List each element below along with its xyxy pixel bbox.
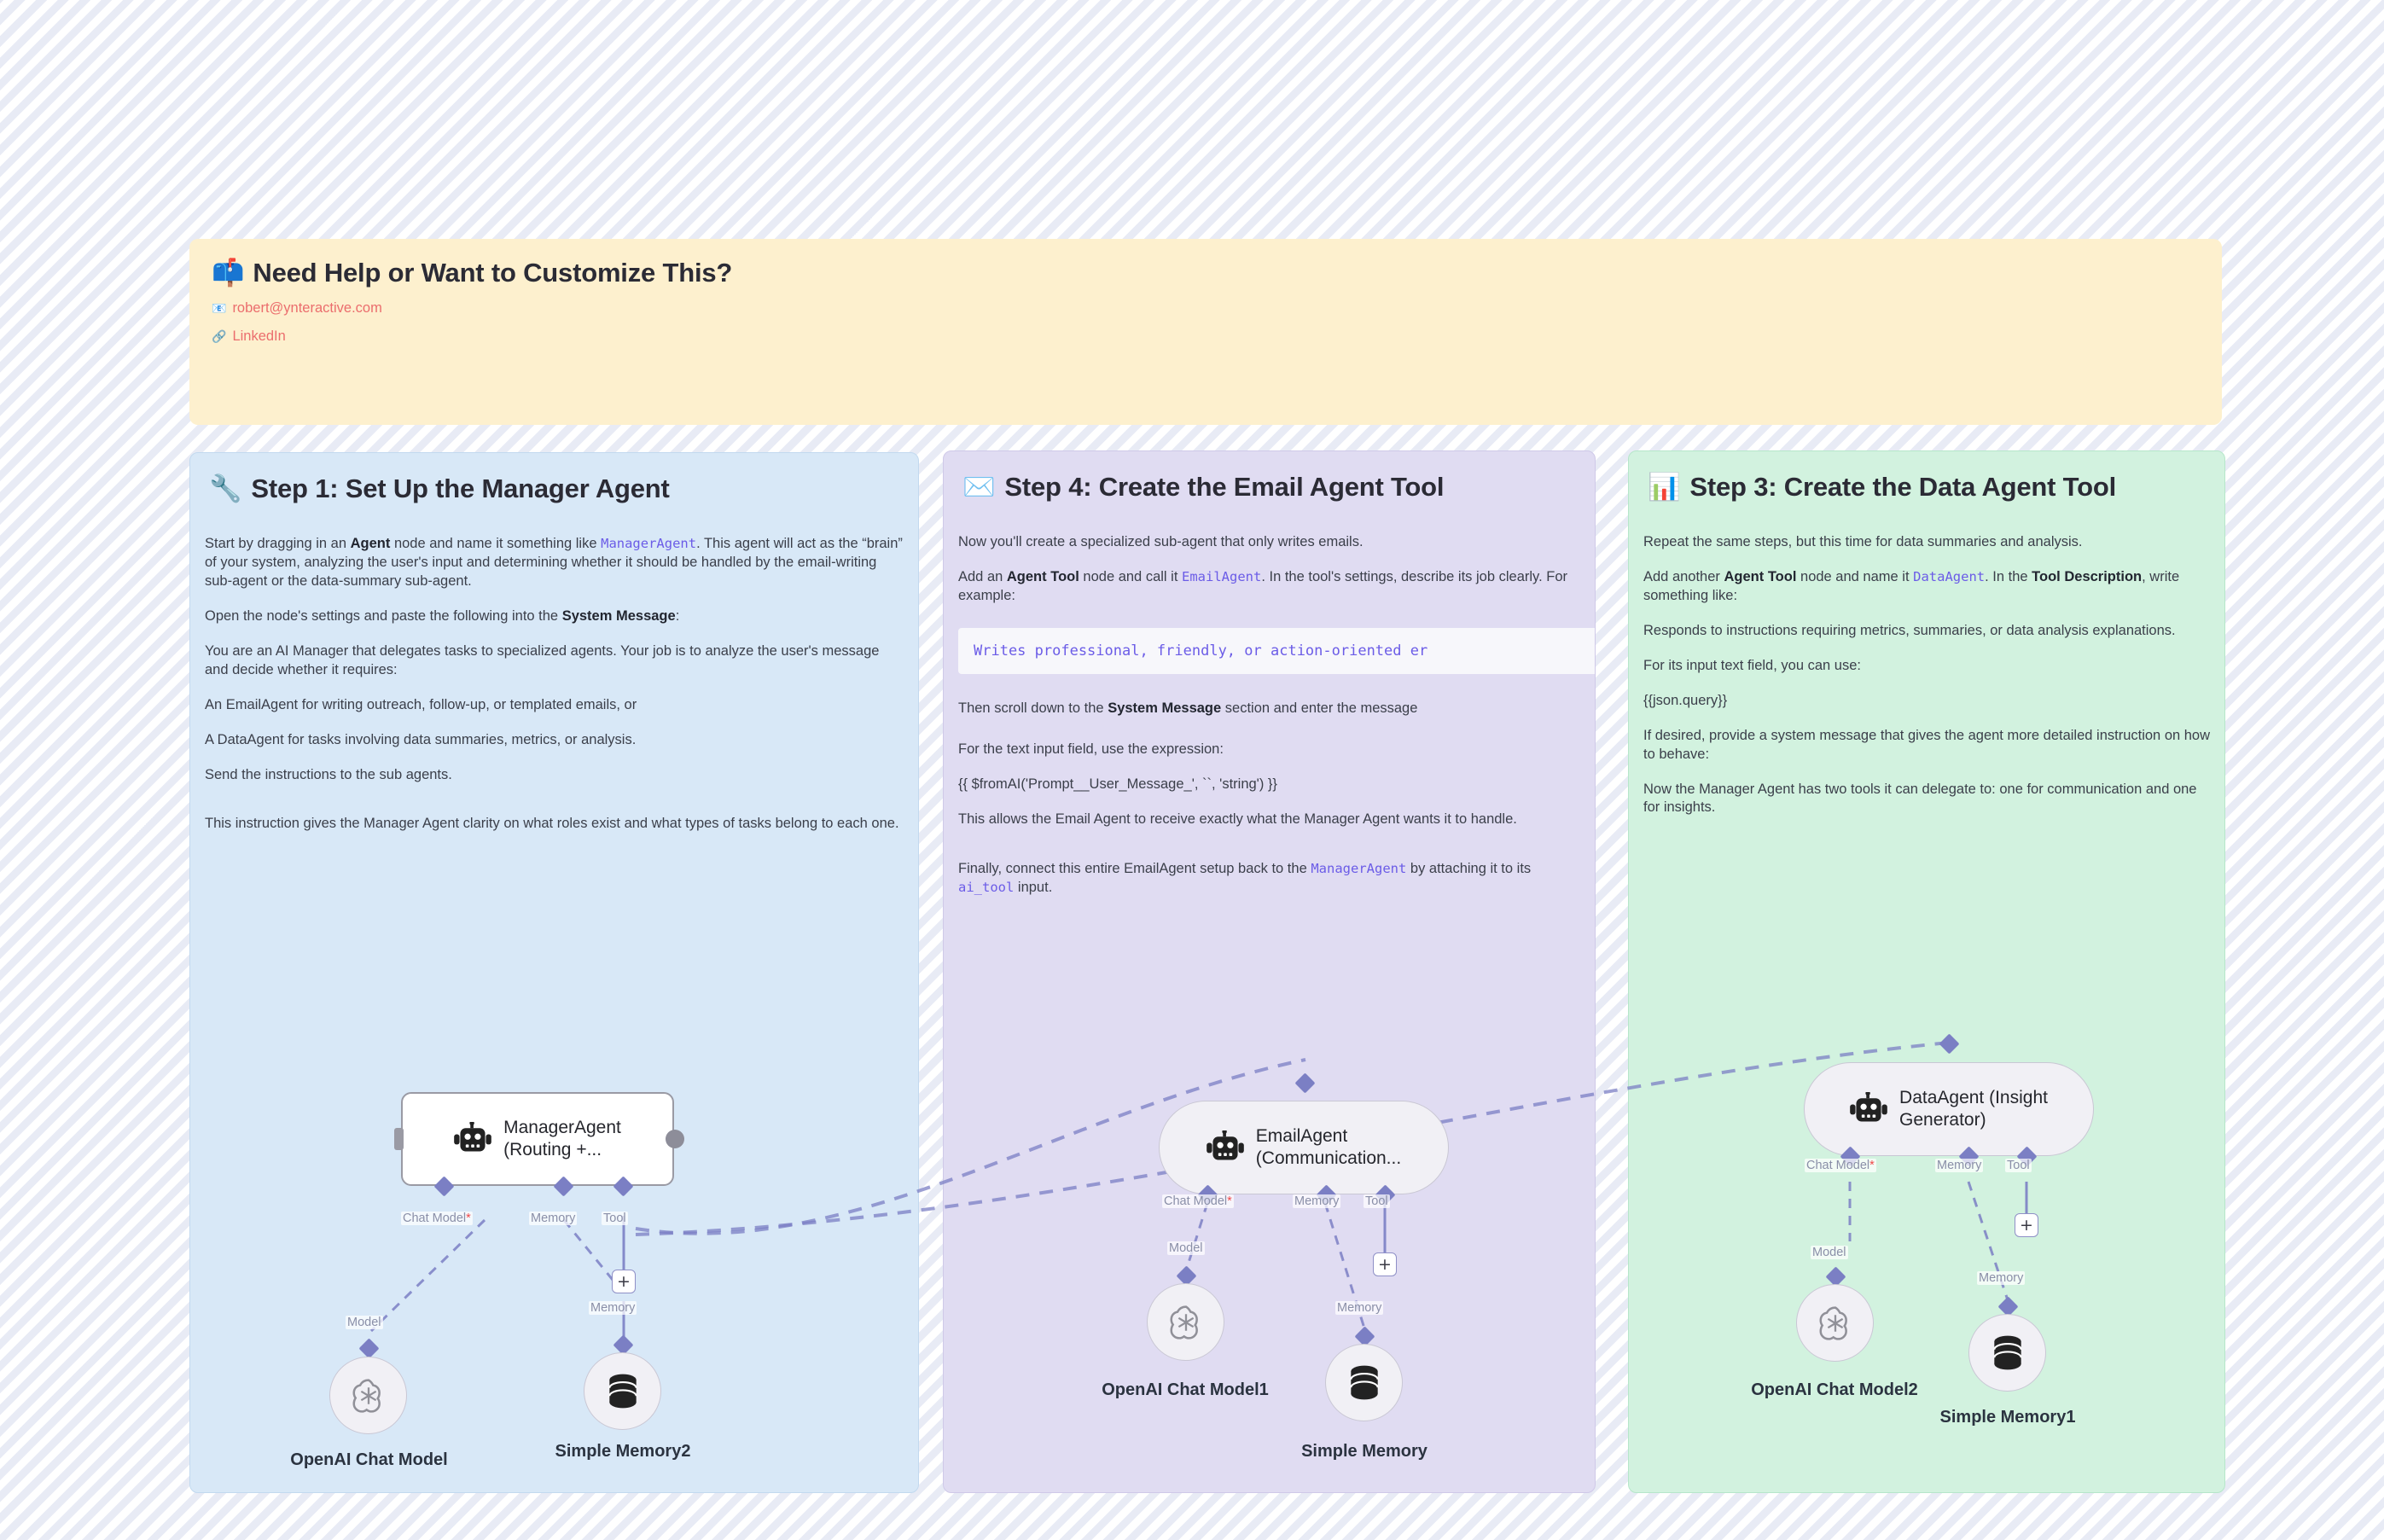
node-manager-agent[interactable]: ManagerAgent (Routing +... <box>401 1092 674 1186</box>
paragraph: For the text input field, use the expres… <box>958 741 1583 759</box>
node-openai-chat-model[interactable] <box>329 1357 407 1434</box>
email-agent-tool-description-code: Writes professional, friendly, or action… <box>958 628 1596 675</box>
paragraph: Responds to instructions requiring metri… <box>1643 622 2212 641</box>
paragraph: Send the instructions to the sub agents. <box>205 766 906 785</box>
data-agent-memory-sub-label: Memory <box>1977 1271 2025 1285</box>
manager-agent-tool-label: Tool <box>602 1212 628 1225</box>
paragraph: For its input text field, you can use: <box>1643 657 2212 676</box>
email-agent-memory-label: Memory <box>1293 1194 1340 1208</box>
link-icon: 🔗 <box>212 331 226 343</box>
paragraph: {{json.query}} <box>1643 692 2212 711</box>
simple-memory1-caption: Simple Memory1 <box>1930 1408 2085 1427</box>
paragraph: A DataAgent for tasks involving data sum… <box>205 731 906 750</box>
node-simple-memory[interactable] <box>1325 1344 1403 1421</box>
help-note: 📫 Need Help or Want to Customize This? 📧… <box>189 239 2222 425</box>
node-data-agent[interactable]: DataAgent (Insight Generator) <box>1804 1062 2094 1156</box>
openai-chat-model-caption: OpenAI Chat Model <box>282 1450 456 1470</box>
email-agent-model-sub-label: Model <box>1167 1241 1205 1255</box>
help-note-title-text: Need Help or Want to Customize This? <box>253 258 732 288</box>
panel-step-4: ✉️ Step 4: Create the Email Agent Tool N… <box>943 450 1596 1493</box>
openai-chat-model1-caption: OpenAI Chat Model1 <box>1090 1380 1280 1400</box>
linkedin-link[interactable]: LinkedIn <box>232 328 285 345</box>
panel-step-3-title: 📊 Step 3: Create the Data Agent Tool <box>1648 472 2209 503</box>
email-agent-chat-model-label: Chat Model* <box>1162 1194 1234 1208</box>
simple-memory2-caption: Simple Memory2 <box>538 1442 708 1462</box>
node-simple-memory1[interactable] <box>1968 1314 2046 1392</box>
panel-step-4-title: ✉️ Step 4: Create the Email Agent Tool <box>962 472 1579 503</box>
mailbox-icon: 📫 <box>212 260 244 287</box>
node-simple-memory2[interactable] <box>584 1352 661 1430</box>
database-icon <box>605 1372 641 1411</box>
openai-icon <box>1816 1304 1855 1343</box>
panel-step-3-title-text: Step 3: Create the Data Agent Tool <box>1689 472 2116 503</box>
paragraph: Repeat the same steps, but this time for… <box>1643 533 2212 552</box>
robot-icon <box>1850 1092 1887 1126</box>
robot-icon <box>454 1122 491 1156</box>
email-agent-tool-label: Tool <box>1364 1194 1390 1208</box>
openai-icon <box>1166 1303 1206 1342</box>
paragraph: An EmailAgent for writing outreach, foll… <box>205 696 906 715</box>
data-agent-tool-label: Tool <box>2005 1159 2032 1172</box>
manager-agent-memory-sub-label: Memory <box>589 1301 637 1315</box>
paragraph: Finally, connect this entire EmailAgent … <box>958 860 1583 898</box>
manager-agent-chat-model-label: Chat Model* <box>401 1212 473 1225</box>
node-email-agent[interactable]: EmailAgent (Communication... <box>1159 1101 1449 1194</box>
database-icon <box>1990 1334 2026 1373</box>
help-note-email-row[interactable]: 📧 robert@ynteractive.com <box>212 300 2200 317</box>
node-data-agent-label: DataAgent (Insight Generator) <box>1899 1087 2048 1130</box>
panel-step-1-body: Start by dragging in an Agent node and n… <box>205 535 906 850</box>
panel-step-3-body: Repeat the same steps, but this time for… <box>1643 533 2212 834</box>
panel-step-3: 📊 Step 3: Create the Data Agent Tool Rep… <box>1628 450 2225 1493</box>
robot-icon <box>1207 1130 1244 1165</box>
paragraph: Open the node's settings and paste the f… <box>205 607 906 626</box>
paragraph: You are an AI Manager that delegates tas… <box>205 642 906 680</box>
paragraph: Add another Agent Tool node and name it … <box>1643 568 2212 606</box>
panel-step-4-title-text: Step 4: Create the Email Agent Tool <box>1004 472 1444 503</box>
data-agent-model-sub-label: Model <box>1811 1246 1848 1259</box>
bar-chart-icon: 📊 <box>1648 474 1680 501</box>
manager-agent-memory-label: Memory <box>529 1212 577 1225</box>
paragraph: Add an Agent Tool node and call it Email… <box>958 568 1583 606</box>
panel-step-1: 🔧 Step 1: Set Up the Manager Agent Start… <box>189 452 919 1493</box>
paragraph: {{ $fromAI('Prompt__User_Message_', ``, … <box>958 776 1583 794</box>
email-icon: 📧 <box>212 303 226 315</box>
data-agent-memory-label: Memory <box>1935 1159 1983 1172</box>
simple-memory-caption: Simple Memory <box>1287 1442 1442 1462</box>
panel-step-4-body: Now you'll create a specialized sub-agen… <box>958 533 1583 914</box>
paragraph: Now the Manager Agent has two tools it c… <box>1643 781 2212 818</box>
paragraph: Then scroll down to the System Message s… <box>958 700 1583 718</box>
node-openai-chat-model1[interactable] <box>1147 1283 1224 1361</box>
data-agent-tool-add-button[interactable]: + <box>2015 1213 2038 1237</box>
openai-icon <box>349 1376 388 1415</box>
manager-agent-output-port[interactable] <box>666 1130 684 1148</box>
envelope-icon: ✉️ <box>962 474 995 501</box>
email-link[interactable]: robert@ynteractive.com <box>232 300 381 317</box>
email-agent-tool-add-button[interactable]: + <box>1373 1252 1397 1276</box>
manager-agent-input-port[interactable] <box>394 1128 404 1150</box>
paragraph: Start by dragging in an Agent node and n… <box>205 535 906 591</box>
email-agent-memory-sub-label: Memory <box>1335 1301 1383 1315</box>
node-manager-agent-label: ManagerAgent (Routing +... <box>503 1117 621 1160</box>
openai-chat-model2-caption: OpenAI Chat Model2 <box>1736 1380 1933 1400</box>
manager-agent-memory-add-button[interactable]: + <box>612 1270 636 1293</box>
paragraph: If desired, provide a system message tha… <box>1643 727 2212 764</box>
panel-step-1-title: 🔧 Step 1: Set Up the Manager Agent <box>209 474 903 504</box>
node-email-agent-label: EmailAgent (Communication... <box>1256 1125 1401 1169</box>
help-note-title: 📫 Need Help or Want to Customize This? <box>212 258 2200 288</box>
data-agent-chat-model-label: Chat Model* <box>1805 1159 1876 1172</box>
node-openai-chat-model2[interactable] <box>1796 1284 1874 1362</box>
paragraph: This allows the Email Agent to receive e… <box>958 811 1583 829</box>
help-note-linkedin-row[interactable]: 🔗 LinkedIn <box>212 328 2200 345</box>
wrench-icon: 🔧 <box>209 476 241 503</box>
openai-chat-model-port-label: Model <box>346 1316 383 1329</box>
panel-step-1-title-text: Step 1: Set Up the Manager Agent <box>251 474 669 504</box>
paragraph: Now you'll create a specialized sub-agen… <box>958 533 1583 552</box>
paragraph: This instruction gives the Manager Agent… <box>205 815 906 834</box>
database-icon <box>1346 1363 1382 1403</box>
